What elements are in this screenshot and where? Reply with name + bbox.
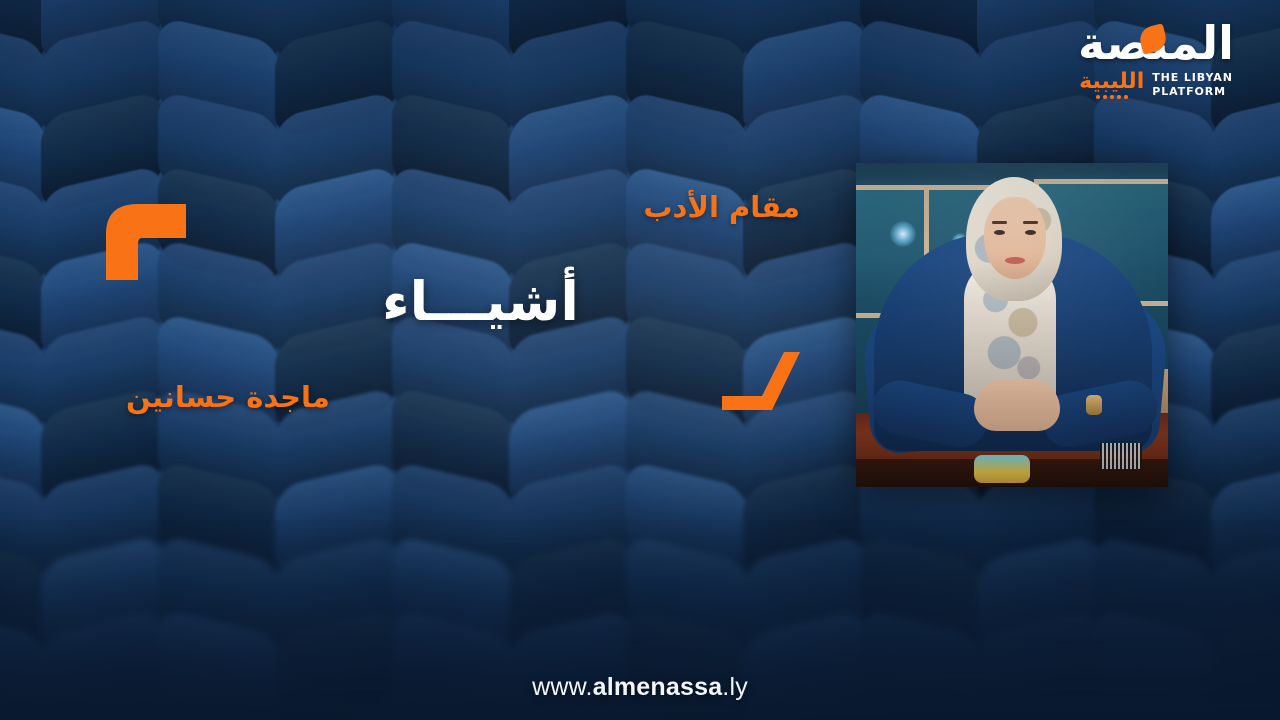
logo-english: THE LIBYAN PLATFORM: [1152, 71, 1233, 99]
orange-check-mark: [722, 352, 800, 410]
logo-arabic-main: المنصة: [1056, 20, 1256, 66]
portrait-scene: [856, 163, 1168, 487]
logo-english-line2: PLATFORM: [1152, 85, 1233, 99]
channel-logo: المنصة الليبية THE LIBYAN PLATFORM: [1056, 20, 1256, 99]
program-kicker: مقام الأدب: [643, 190, 800, 224]
logo-subline: الليبية THE LIBYAN PLATFORM: [1056, 71, 1256, 99]
logo-arabic-sub: الليبية: [1079, 71, 1144, 93]
portrait-grading: [856, 163, 1168, 487]
broadcast-graphic-stage: مقام الأدب أشيـــاء ماجدة حسانين المنصة …: [0, 0, 1280, 720]
url-prefix: www.: [532, 673, 593, 701]
episode-headline: أشيـــاء: [382, 270, 579, 333]
logo-dots-decoration: [1079, 95, 1144, 99]
logo-english-line1: THE LIBYAN: [1152, 71, 1233, 85]
website-url: www.almenassa.ly: [0, 673, 1280, 702]
guest-name-label: ماجدة حسانين: [126, 380, 330, 414]
orange-hook-mark: [100, 198, 190, 280]
url-brand: almenassa: [593, 673, 723, 701]
url-tld: .ly: [722, 673, 748, 701]
guest-portrait: [856, 163, 1168, 487]
logo-arabic-sub-wrap: الليبية: [1079, 71, 1144, 99]
